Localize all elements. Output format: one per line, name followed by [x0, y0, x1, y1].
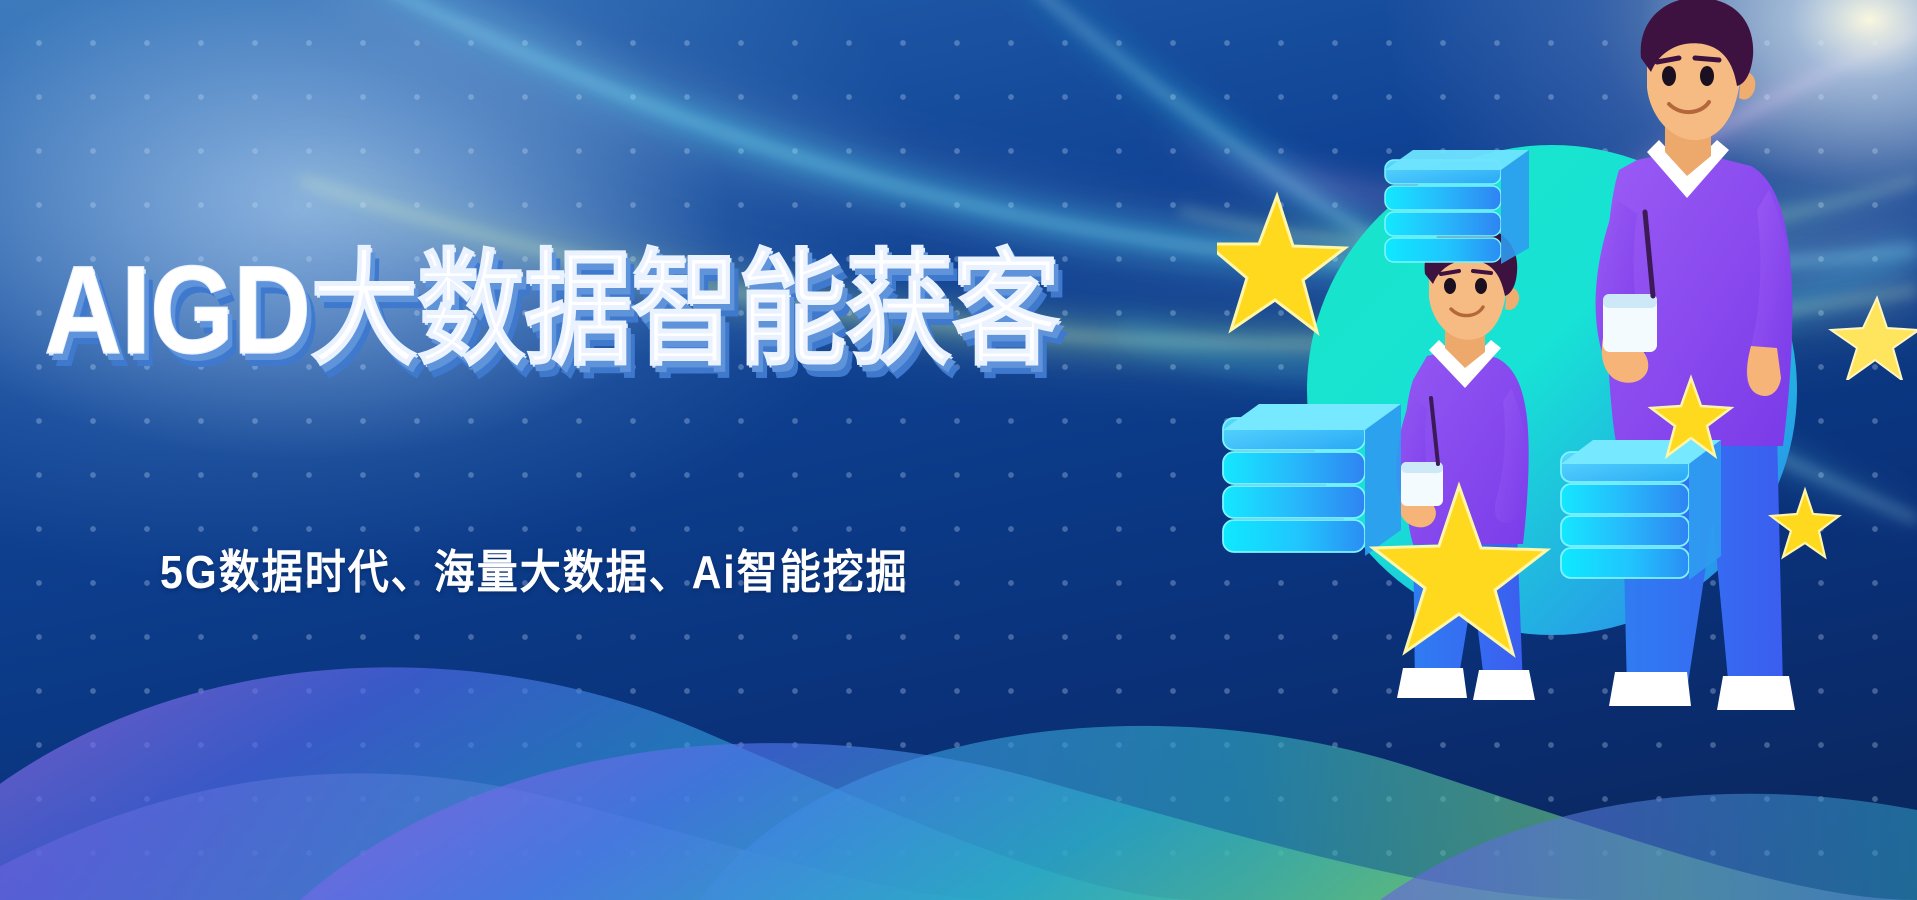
server-stack-top — [1385, 150, 1529, 264]
server-stack-right — [1561, 440, 1721, 580]
shoe-small-right — [1473, 670, 1535, 700]
server-stack-left — [1223, 404, 1401, 556]
eye-large-left — [1662, 66, 1676, 86]
eye-large-right — [1700, 66, 1714, 86]
hand-large-right — [1747, 346, 1781, 396]
star-tiny — [1771, 490, 1839, 557]
shoe-large-left — [1609, 672, 1691, 706]
page-subtitle: 5G数据时代、海量大数据、Ai智能挖掘 — [160, 534, 909, 601]
eye-small-right — [1475, 278, 1487, 294]
shoe-small-left — [1397, 668, 1467, 698]
star-edge — [1827, 290, 1917, 380]
hero-illustration — [1217, 0, 1917, 900]
promo-banner: AIGD大数据智能获客 5G数据时代、海量大数据、Ai智能挖掘 — [0, 0, 1917, 900]
eye-small-left — [1444, 278, 1456, 294]
page-title: AIGD大数据智能获客 — [44, 243, 1059, 378]
shoe-large-right — [1717, 676, 1795, 710]
man-large-standing — [1596, 0, 1795, 710]
banner-copy: AIGD大数据智能获客 5G数据时代、海量大数据、Ai智能挖掘 — [0, 0, 1100, 900]
